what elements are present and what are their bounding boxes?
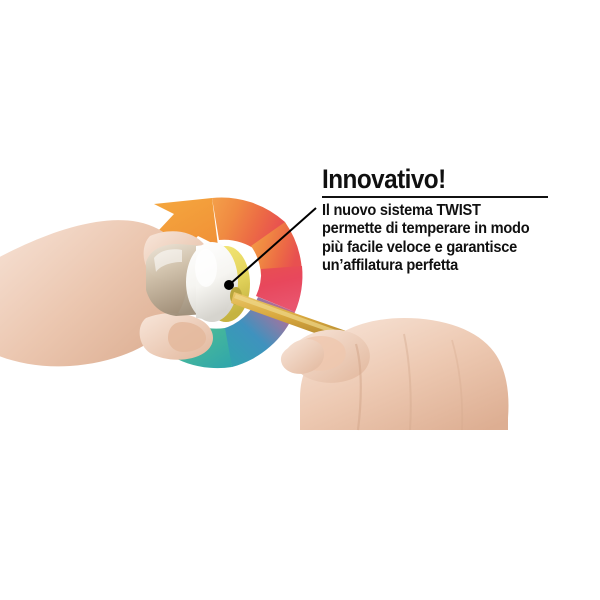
callout-body: Il nuovo sistema TWIST permette di tempe…: [322, 202, 578, 276]
page-title: Innovativo!: [322, 164, 563, 194]
callout-text-block: Innovativo! Il nuovo sistema TWIST perme…: [322, 164, 590, 276]
twist-pencil-sharpener: [146, 242, 250, 322]
product-illustration: [0, 0, 600, 600]
sharpener-body-highlight: [195, 249, 217, 287]
callout-body-line-2: permette di temperare in modo: [322, 220, 578, 238]
callout-body-line-1: Il nuovo sistema TWIST: [322, 202, 578, 220]
callout-body-line-3: più facile veloce e garantisce: [322, 239, 578, 257]
poster-canvas: Innovativo! Il nuovo sistema TWIST perme…: [0, 0, 600, 600]
right-hand: [281, 318, 509, 430]
callout-leader-dot: [224, 280, 234, 290]
callout-body-line-4: un’affilatura perfetta: [322, 257, 578, 275]
callout-rule: [322, 196, 548, 198]
